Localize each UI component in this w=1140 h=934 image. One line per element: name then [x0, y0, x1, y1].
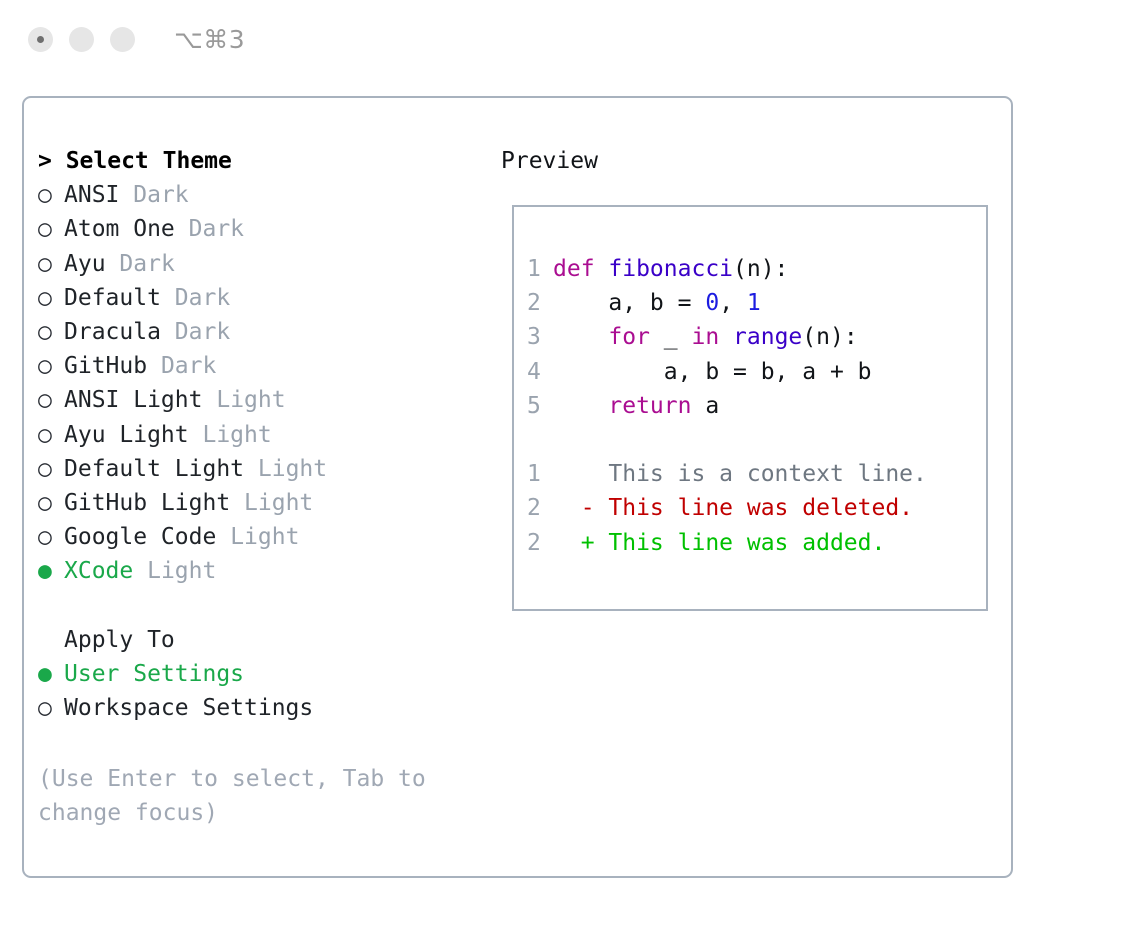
theme-option-kind: Light — [216, 387, 285, 413]
theme-option-kind: Dark — [175, 285, 230, 311]
theme-option-kind: Light — [202, 422, 271, 448]
radio-unselected-icon[interactable]: ○ — [38, 212, 64, 246]
code-line: 2 a, b = 0, 1 — [527, 286, 977, 320]
apply-to-header: Apply To — [38, 623, 488, 657]
theme-option-row[interactable]: ○GitHub Dark — [38, 349, 488, 383]
code-line-number: 1 — [527, 252, 553, 286]
theme-option-row[interactable]: ○GitHub Light Light — [38, 486, 488, 520]
radio-unselected-icon[interactable]: ○ — [38, 691, 64, 725]
window-titlebar: ⌥⌘3 — [0, 0, 1140, 78]
code-token-plain — [553, 324, 608, 350]
radio-unselected-icon[interactable]: ○ — [38, 281, 64, 315]
theme-option-kind: Dark — [133, 182, 188, 208]
diff-line: 2 + This line was added. — [527, 526, 977, 560]
theme-option-name: Ayu Light — [64, 422, 189, 448]
diff-line-number: 1 — [527, 457, 553, 491]
code-token-plain: (n): — [802, 324, 857, 350]
apply-to-option-label: User Settings — [64, 661, 244, 687]
apply-to-option-row[interactable]: ●User Settings — [38, 657, 488, 691]
theme-option-name: GitHub — [64, 353, 147, 379]
code-token-plain: a — [691, 393, 719, 419]
code-token-plain: _ — [650, 324, 692, 350]
radio-unselected-icon[interactable]: ○ — [38, 520, 64, 554]
code-token-fn: fibonacci — [608, 256, 733, 282]
code-token-plain — [553, 393, 608, 419]
theme-name-kind-gap — [106, 251, 120, 277]
terminal-window: ⌥⌘3 > Select Theme ○ANSI Dark○Atom One D… — [0, 0, 1140, 934]
radio-unselected-icon[interactable]: ○ — [38, 452, 64, 486]
code-token-kw: in — [691, 324, 719, 350]
theme-option-name: XCode — [64, 558, 133, 584]
apply-to-option-label: Workspace Settings — [64, 695, 313, 721]
diff-line: 1 This is a context line. — [527, 457, 977, 491]
theme-option-kind: Light — [147, 558, 216, 584]
theme-option-kind: Light — [244, 490, 313, 516]
traffic-light-1-dot — [37, 36, 44, 43]
theme-option-name: GitHub Light — [64, 490, 230, 516]
radio-unselected-icon[interactable]: ○ — [38, 418, 64, 452]
theme-option-row[interactable]: ○Dracula Dark — [38, 315, 488, 349]
theme-option-name: Default Light — [64, 456, 244, 482]
theme-option-kind: Light — [258, 456, 327, 482]
theme-option-name: Atom One — [64, 216, 175, 242]
theme-option-row[interactable]: ○Ayu Light Light — [38, 418, 488, 452]
radio-unselected-icon[interactable]: ○ — [38, 178, 64, 212]
code-token-plain: a, b = b, a + b — [553, 359, 872, 385]
theme-option-row[interactable]: ○ANSI Light Light — [38, 383, 488, 417]
list-spacer — [38, 589, 488, 623]
apply-to-options-list: ●User Settings○Workspace Settings — [38, 657, 488, 725]
theme-name-kind-gap — [189, 422, 203, 448]
theme-option-row[interactable]: ○Ayu Dark — [38, 247, 488, 281]
theme-option-name: Dracula — [64, 319, 161, 345]
theme-option-row[interactable]: ○Default Light Light — [38, 452, 488, 486]
code-token-plain: a, b = — [553, 290, 705, 316]
code-lines: 1def fibonacci(n):2 a, b = 0, 13 for _ i… — [527, 252, 977, 423]
theme-option-kind: Dark — [119, 251, 174, 277]
select-theme-header: > Select Theme — [38, 144, 488, 178]
code-token-fn: range — [733, 324, 802, 350]
theme-option-kind: Light — [230, 524, 299, 550]
theme-option-row[interactable]: ○Atom One Dark — [38, 212, 488, 246]
traffic-light-2[interactable] — [69, 27, 94, 52]
theme-name-kind-gap — [202, 387, 216, 413]
diff-line-number: 2 — [527, 491, 553, 525]
preview-title: Preview — [501, 144, 1001, 178]
theme-option-row[interactable]: ○ANSI Dark — [38, 178, 488, 212]
radio-unselected-icon[interactable]: ○ — [38, 349, 64, 383]
diff-lines: 1 This is a context line.2 - This line w… — [527, 457, 977, 560]
theme-name-kind-gap — [147, 353, 161, 379]
preview-box: 1def fibonacci(n):2 a, b = 0, 13 for _ i… — [512, 205, 988, 611]
code-diff-spacer — [527, 423, 977, 457]
code-line-number: 5 — [527, 389, 553, 423]
code-token-num: 1 — [747, 290, 761, 316]
theme-name-kind-gap — [230, 490, 244, 516]
code-token-plain: , — [719, 290, 747, 316]
theme-name-kind-gap — [216, 524, 230, 550]
theme-option-row[interactable]: ○Google Code Light — [38, 520, 488, 554]
code-token-plain — [719, 324, 733, 350]
theme-list-column: > Select Theme ○ANSI Dark○Atom One Dark○… — [38, 144, 488, 725]
radio-unselected-icon[interactable]: ○ — [38, 383, 64, 417]
theme-option-name: ANSI Light — [64, 387, 202, 413]
theme-option-row[interactable]: ○Default Dark — [38, 281, 488, 315]
theme-name-kind-gap — [133, 558, 147, 584]
radio-unselected-icon[interactable]: ○ — [38, 315, 64, 349]
theme-option-name: Google Code — [64, 524, 216, 550]
diff-marker: + — [553, 530, 595, 556]
diff-marker — [553, 461, 595, 487]
theme-name-kind-gap — [161, 319, 175, 345]
theme-name-kind-gap — [161, 285, 175, 311]
diff-line-number: 2 — [527, 526, 553, 560]
radio-selected-icon[interactable]: ● — [38, 657, 64, 691]
theme-option-row[interactable]: ●XCode Light — [38, 554, 488, 588]
code-token-kw: def — [553, 256, 608, 282]
diff-text: This line was added. — [595, 530, 886, 556]
theme-options-list: ○ANSI Dark○Atom One Dark○Ayu Dark○Defaul… — [38, 178, 488, 588]
radio-unselected-icon[interactable]: ○ — [38, 486, 64, 520]
theme-name-kind-gap — [175, 216, 189, 242]
diff-marker: - — [553, 495, 595, 521]
code-line-number: 4 — [527, 355, 553, 389]
theme-option-name: Ayu — [64, 251, 106, 277]
radio-selected-icon[interactable]: ● — [38, 554, 64, 588]
theme-option-name: Default — [64, 285, 161, 311]
code-token-kw: for — [608, 324, 650, 350]
code-line: 3 for _ in range(n): — [527, 320, 977, 354]
code-token-num: 0 — [705, 290, 719, 316]
code-token-kw: return — [608, 393, 691, 419]
theme-option-name: ANSI — [64, 182, 119, 208]
theme-name-kind-gap — [244, 456, 258, 482]
code-line-number: 2 — [527, 286, 553, 320]
code-line: 1def fibonacci(n): — [527, 252, 977, 286]
radio-unselected-icon[interactable]: ○ — [38, 247, 64, 281]
code-line-number: 3 — [527, 320, 553, 354]
diff-text: This line was deleted. — [595, 495, 914, 521]
theme-option-kind: Dark — [175, 319, 230, 345]
keyboard-shortcut-label: ⌥⌘3 — [174, 27, 245, 52]
code-token-plain: (n): — [733, 256, 788, 282]
diff-line: 2 - This line was deleted. — [527, 491, 977, 525]
code-line: 4 a, b = b, a + b — [527, 355, 977, 389]
keyboard-hint-text: (Use Enter to select, Tab to change focu… — [38, 762, 438, 830]
diff-text: This is a context line. — [595, 461, 927, 487]
theme-option-kind: Dark — [161, 353, 216, 379]
traffic-light-1[interactable] — [28, 27, 53, 52]
code-line: 5 return a — [527, 389, 977, 423]
code-sample-area: 1def fibonacci(n):2 a, b = 0, 13 for _ i… — [527, 252, 977, 560]
traffic-light-3[interactable] — [110, 27, 135, 52]
apply-to-option-row[interactable]: ○Workspace Settings — [38, 691, 488, 725]
theme-name-kind-gap — [119, 182, 133, 208]
theme-picker-panel: > Select Theme ○ANSI Dark○Atom One Dark○… — [22, 96, 1013, 878]
preview-column: Preview 1def fibonacci(n):2 a, b = 0, 13… — [501, 144, 1001, 178]
theme-option-kind: Dark — [189, 216, 244, 242]
